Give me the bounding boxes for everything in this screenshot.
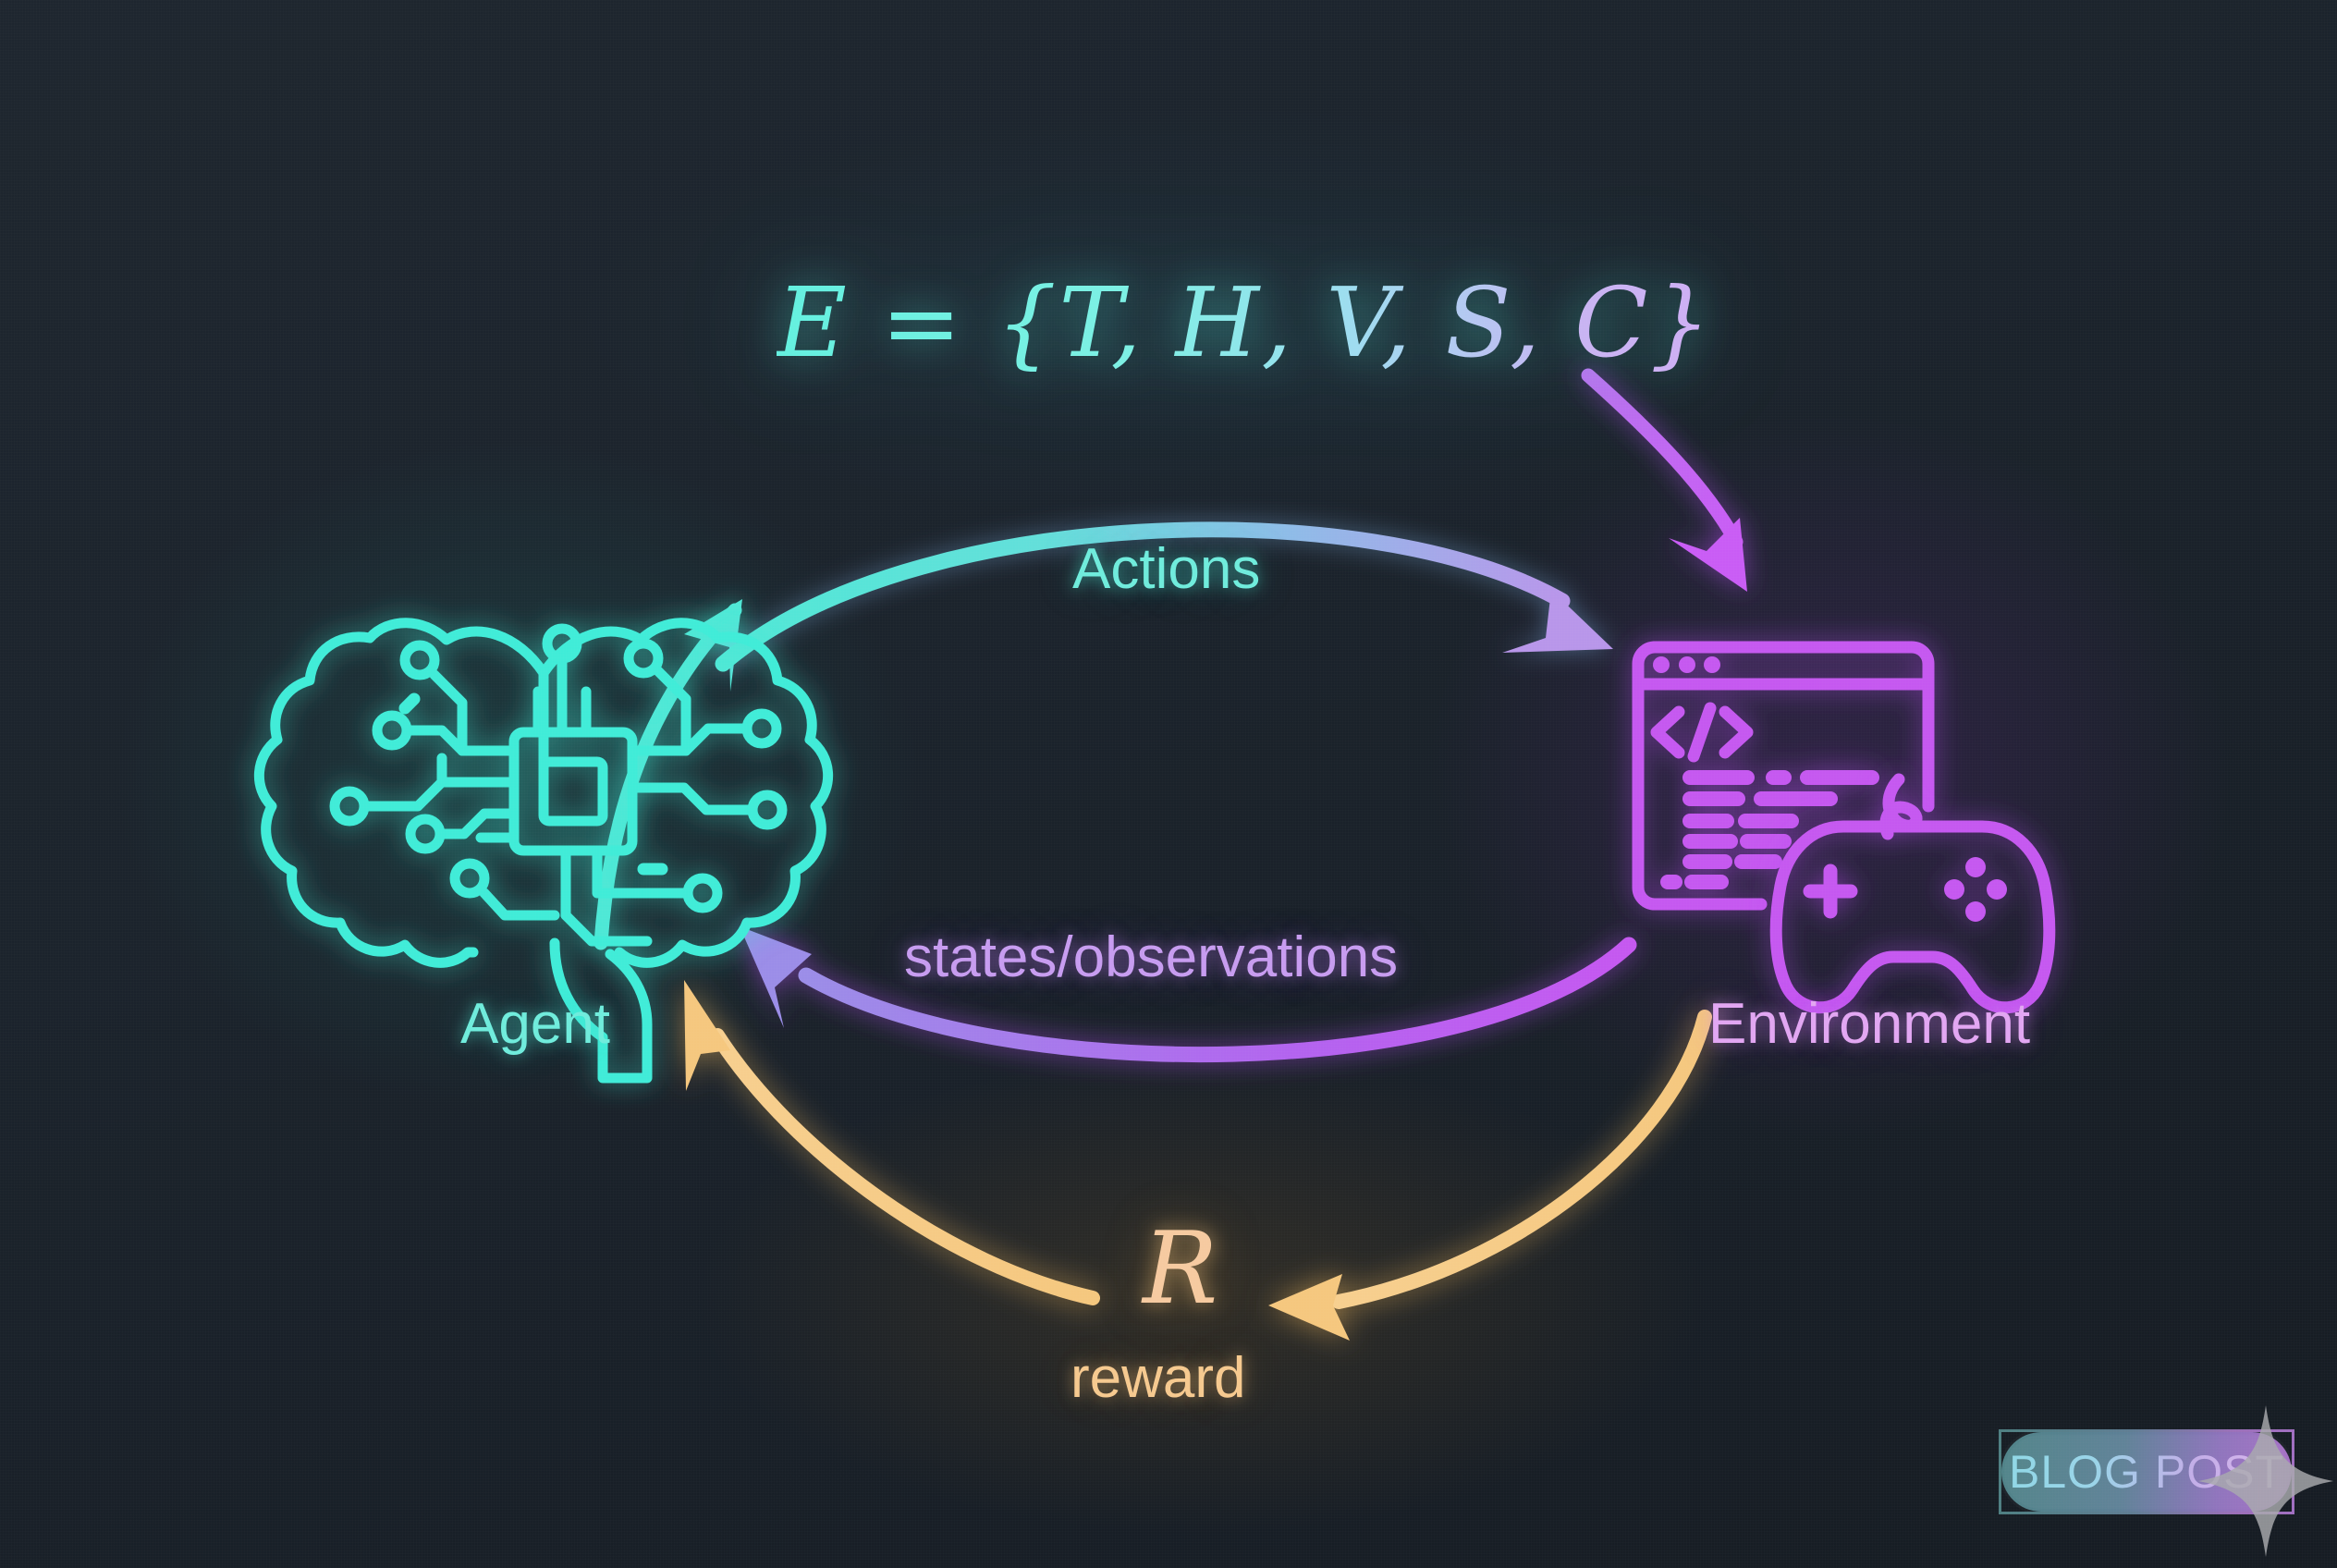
- edge-label-actions: Actions: [1072, 536, 1260, 602]
- gamepad-icon: [1776, 779, 2049, 1008]
- environment-icon-group: [0, 0, 2337, 1568]
- environment-formula: E = {T, H, V, S, C}: [777, 266, 1713, 379]
- node-label-environment: Environment: [1708, 991, 2030, 1057]
- edge-label-reward: reward: [1071, 1345, 1246, 1411]
- edge-label-states-observations: states/observations: [904, 925, 1398, 990]
- node-label-agent: Agent: [460, 991, 610, 1057]
- diagram-canvas: E = {T, H, V, S, C} Actions states/obser…: [0, 0, 2337, 1568]
- reward-symbol: R: [1143, 1211, 1217, 1327]
- blog-post-badge[interactable]: BLOG POST: [1999, 1429, 2294, 1514]
- badge-label: BLOG POST: [2001, 1445, 2292, 1499]
